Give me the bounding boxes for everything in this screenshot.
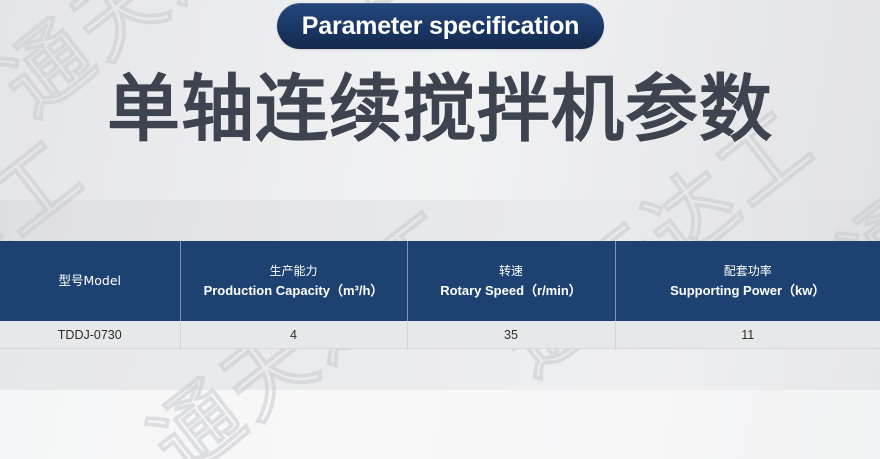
table-header: 型号Model 生产能力 Production Capacity（m³/h） 转… bbox=[0, 241, 880, 321]
background-band-mid bbox=[0, 200, 880, 241]
specification-table: 型号Model 生产能力 Production Capacity（m³/h） 转… bbox=[0, 241, 880, 349]
background-band-under-table bbox=[0, 348, 880, 390]
column-header-rotary-speed: 转速 Rotary Speed（r/min） bbox=[407, 241, 615, 321]
column-header-supporting-power-en: Supporting Power（kw） bbox=[616, 282, 880, 300]
column-header-production-capacity-en: Production Capacity（m³/h） bbox=[181, 282, 407, 300]
cell-supporting-power: 11 bbox=[615, 321, 880, 349]
column-header-production-capacity: 生产能力 Production Capacity（m³/h） bbox=[180, 241, 407, 321]
parameter-specification-page: 通天达工 通天达工 通天达工 通天达工 通天达工 通天达工 通天达工 Param… bbox=[0, 0, 880, 459]
column-header-model: 型号Model bbox=[0, 241, 180, 321]
parameter-specification-badge: Parameter specification bbox=[277, 3, 604, 49]
badge-label: Parameter specification bbox=[302, 14, 579, 39]
table-row: TDDJ-0730 4 35 11 bbox=[0, 321, 880, 349]
column-header-rotary-speed-cn: 转速 bbox=[408, 263, 615, 280]
cell-rotary-speed: 35 bbox=[407, 321, 615, 349]
column-header-model-label: 型号Model bbox=[0, 272, 180, 290]
background-band-bottom bbox=[0, 390, 880, 459]
column-header-supporting-power: 配套功率 Supporting Power（kw） bbox=[615, 241, 880, 321]
cell-model: TDDJ-0730 bbox=[0, 321, 180, 349]
cell-production-capacity: 4 bbox=[180, 321, 407, 349]
column-header-production-capacity-cn: 生产能力 bbox=[181, 263, 407, 280]
table-header-row: 型号Model 生产能力 Production Capacity（m³/h） 转… bbox=[0, 241, 880, 321]
column-header-rotary-speed-en: Rotary Speed（r/min） bbox=[408, 282, 615, 300]
table-body: TDDJ-0730 4 35 11 bbox=[0, 321, 880, 349]
page-title: 单轴连续搅拌机参数 bbox=[0, 70, 880, 150]
column-header-supporting-power-cn: 配套功率 bbox=[616, 263, 880, 280]
